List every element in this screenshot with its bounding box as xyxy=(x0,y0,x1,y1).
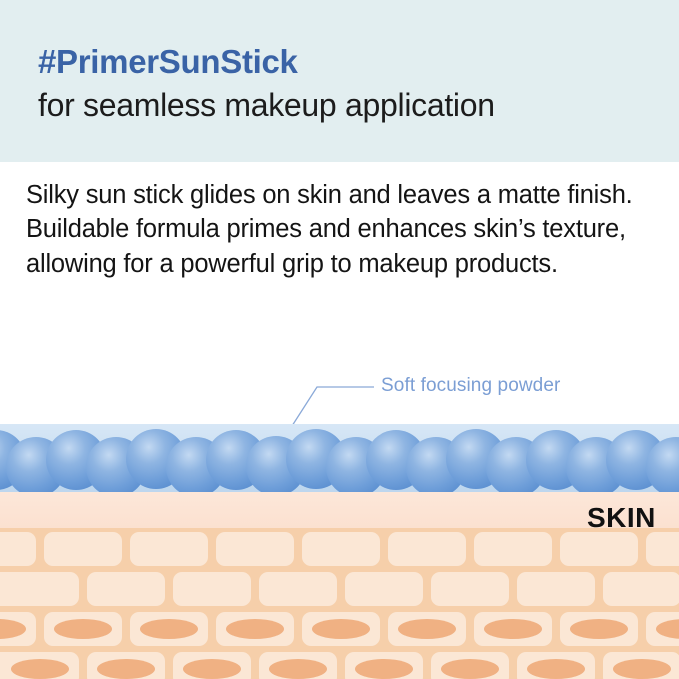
skin-cell-row xyxy=(0,612,679,646)
epidermis-surface-layer xyxy=(0,492,679,528)
skin-cell xyxy=(517,572,595,606)
skin-cell-row xyxy=(0,532,679,566)
skin-label: SKIN xyxy=(587,502,656,534)
skin-cell xyxy=(646,532,679,566)
skin-cell xyxy=(345,572,423,606)
skin-cell-nucleus xyxy=(355,659,413,679)
skin-cell xyxy=(388,532,466,566)
skin-cell xyxy=(474,532,552,566)
skin-cell-nucleus xyxy=(484,619,542,639)
skin-cell xyxy=(302,532,380,566)
skin-cell-nucleus xyxy=(269,659,327,679)
skin-cell-nucleus xyxy=(54,619,112,639)
illustration-background xyxy=(0,360,679,430)
skin-cell-nucleus xyxy=(140,619,198,639)
skin-cell xyxy=(1,572,79,606)
skin-cell xyxy=(560,532,638,566)
skin-cell xyxy=(173,572,251,606)
header-subtitle: for seamless makeup application xyxy=(38,88,495,123)
skin-cell xyxy=(259,572,337,606)
skin-cell-nucleus xyxy=(312,619,370,639)
skin-cross-section-illustration xyxy=(0,360,679,679)
skin-cell-nucleus xyxy=(441,659,499,679)
skin-cell xyxy=(603,572,679,606)
skin-cell xyxy=(0,532,36,566)
skin-cell xyxy=(87,572,165,606)
skin-cell xyxy=(431,572,509,606)
product-description-paragraph: Silky sun stick glides on skin and leave… xyxy=(26,178,640,281)
illustration-svg xyxy=(0,360,679,679)
skin-cell-nucleus xyxy=(11,659,69,679)
skin-cell xyxy=(216,532,294,566)
soft-focusing-powder-label: Soft focusing powder xyxy=(381,375,560,397)
skin-cell-nucleus xyxy=(613,659,671,679)
skin-cell-nucleus xyxy=(226,619,284,639)
skin-cell xyxy=(130,532,208,566)
skin-cell-nucleus xyxy=(570,619,628,639)
skin-cell xyxy=(44,532,122,566)
header-band: #PrimerSunStick for seamless makeup appl… xyxy=(0,0,679,162)
skin-cell-nucleus xyxy=(183,659,241,679)
skin-cell-nucleus xyxy=(97,659,155,679)
product-infographic-page: #PrimerSunStick for seamless makeup appl… xyxy=(0,0,679,679)
skin-cell-nucleus xyxy=(398,619,456,639)
skin-cell-nucleus xyxy=(527,659,585,679)
hashtag-title: #PrimerSunStick xyxy=(38,44,298,80)
